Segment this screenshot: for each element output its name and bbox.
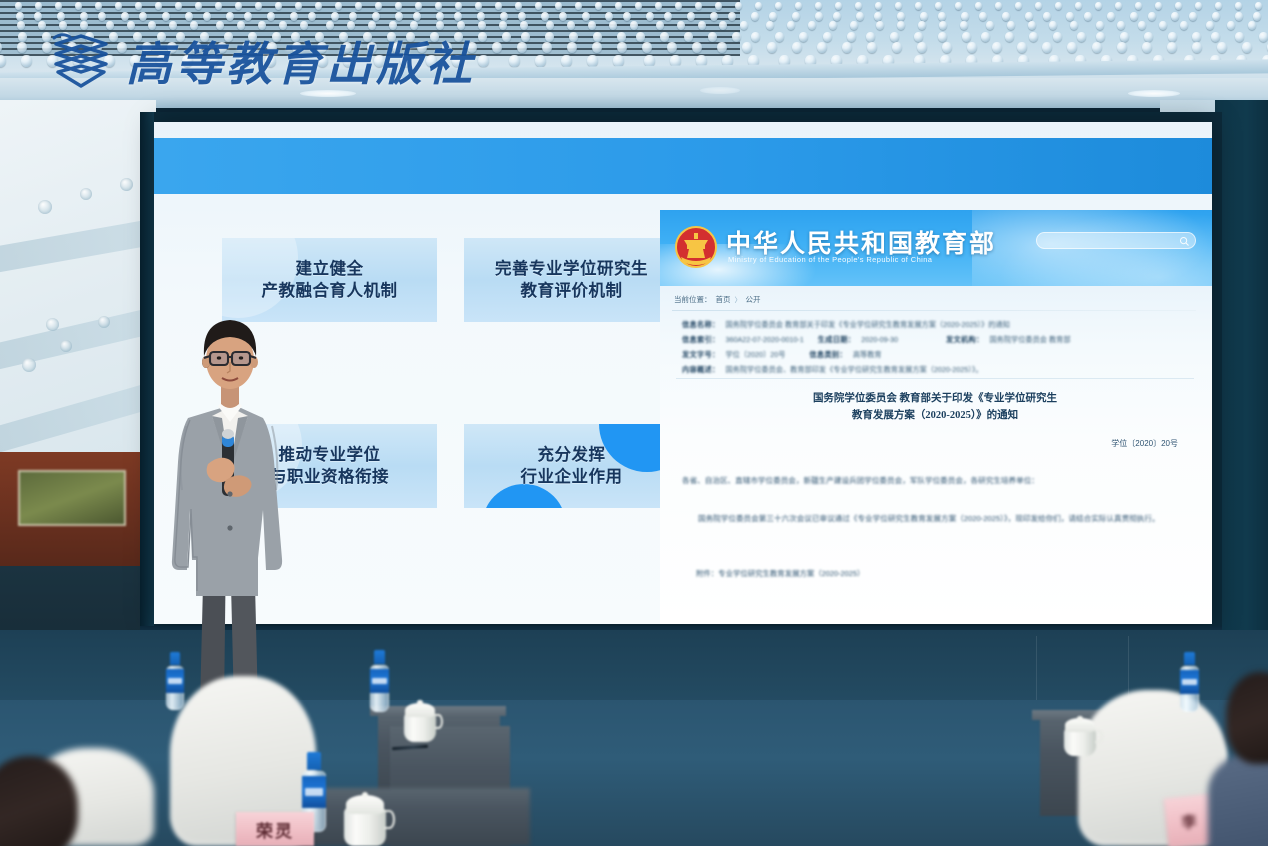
table-row: 发文字号： 学位〔2020〕20号 信息类别： 高等教育 [682,350,1192,360]
slide-box-bottom-right: 充分发挥 行业企业作用 [464,424,679,508]
meta-value: 高等教育 [853,350,882,360]
name-card-left: 荣灵 [236,812,314,846]
slide-title-blue-strip [154,138,1212,194]
table-row: 信息名称： 国务院学位委员会 教育部关于印发《专业学位研究生教育发展方案（202… [682,320,1192,330]
metadata-divider [676,378,1194,379]
downlight-icon [700,87,740,94]
meta-value: 2020-09-30 [861,335,898,344]
breadcrumb-item-home[interactable]: 首页 [716,294,731,305]
chevron-right-icon: 〉 [735,295,742,305]
breadcrumb-divider [672,310,1196,311]
water-bottle-icon [370,650,389,712]
meta-key: 发文机构： [946,335,983,345]
presentation-slide: 《专硕教育发展方案》指明发展路径 建立健全 产教融合育人机制 完善专业学位研究生… [154,122,1212,624]
name-card-text: 李 [1180,810,1199,833]
meta-value: 国务院学位委员会 教育部 [989,335,1070,345]
downlight-icon [1128,90,1180,97]
meta-value: 学位〔2020〕20号 [725,350,785,360]
meta-key: 内容概述： [682,365,719,375]
moe-website-screenshot: 中华人民共和国教育部 Ministry of Education of the … [660,210,1212,624]
teacup-with-lid-icon [344,792,386,846]
search-icon[interactable] [1179,236,1190,247]
conference-photo-scene: 高等教育出版社 《专硕教育发展方案》指明发展路径 [0,0,1268,846]
document-title: 国务院学位委员会 教育部关于印发《专业学位研究生 教育发展方案（2020-202… [720,390,1150,425]
document-addressee: 各省、自治区、直辖市学位委员会，新疆生产建设兵团学位委员会，军队学位委员会，各研… [682,474,1168,488]
document-paragraph: 国务院学位委员会第三十六次会议已审议通过《专业学位研究生教育发展方案（2020-… [682,512,1168,526]
male-presenter-icon [160,306,300,706]
meta-key: 生成日期： [818,335,855,345]
name-card-text: 荣灵 [256,817,294,842]
table-row: 内容概述： 国务院学位委员会、教育部印发《专业学位研究生教育发展方案（2020-… [682,365,1192,375]
breadcrumb: 当前位置： 首页 〉 公开 [674,294,761,305]
document-metadata-table: 信息名称： 国务院学位委员会 教育部关于印发《专业学位研究生教育发展方案（202… [682,320,1192,380]
podium-plaque [18,470,126,526]
water-bottle-icon [1180,652,1199,712]
breadcrumb-prefix: 当前位置： [674,294,712,305]
moe-title-en: Ministry of Education of the People's Re… [728,255,932,264]
meta-value: 国务院学位委员会、教育部印发《专业学位研究生教育发展方案（2020-2025）》… [725,365,982,375]
moe-site-header: 中华人民共和国教育部 Ministry of Education of the … [660,210,1212,286]
publisher-name: 高等教育出版社 [126,28,476,94]
meta-key: 信息名称： [682,320,719,330]
slide-box-label: 充分发挥 行业企业作用 [521,444,623,489]
table-row: 信息索引： 360A22-07-2020-0010-1 生成日期： 2020-0… [682,335,1192,345]
meta-key: 发文字号： [682,350,719,360]
teacup-with-lid-icon [1064,716,1096,756]
screen-left-edge [140,112,154,632]
china-national-emblem-icon [674,224,718,270]
meta-key: 信息类别： [809,350,846,360]
document-attachment: 附件：专业学位研究生教育发展方案（2020-2025） [696,568,864,579]
document-title-line-2: 教育发展方案（2020-2025）》的通知 [720,407,1150,424]
dark-wall-right [1215,100,1268,660]
meta-value: 国务院学位委员会 教育部关于印发《专业学位研究生教育发展方案（2020-2025… [725,320,1009,330]
teacup-with-lid-icon [404,700,436,742]
document-title-line-1: 国务院学位委员会 教育部关于印发《专业学位研究生 [720,390,1150,407]
slide-box-label: 建立健全 产教融合育人机制 [262,258,398,303]
search-input[interactable] [1036,232,1196,249]
conference-table-icon [300,788,530,846]
moe-site-body: 当前位置： 首页 〉 公开 信息名称： 国务院学位委员会 教育部关于印发《专业学… [660,286,1212,624]
breadcrumb-item-public[interactable]: 公开 [746,294,761,305]
meta-key: 信息索引： [682,335,719,345]
water-bottle-icon [166,652,184,710]
meta-value: 360A22-07-2020-0010-1 [725,335,803,344]
document-number: 学位〔2020〕20号 [1111,438,1178,449]
slide-box-top-right: 完善专业学位研究生 教育评价机制 [464,238,679,322]
publisher-watermark: 高等教育出版社 [48,28,476,94]
higher-education-press-logo-icon [48,30,114,92]
slide-box-label: 完善专业学位研究生 教育评价机制 [495,258,648,303]
